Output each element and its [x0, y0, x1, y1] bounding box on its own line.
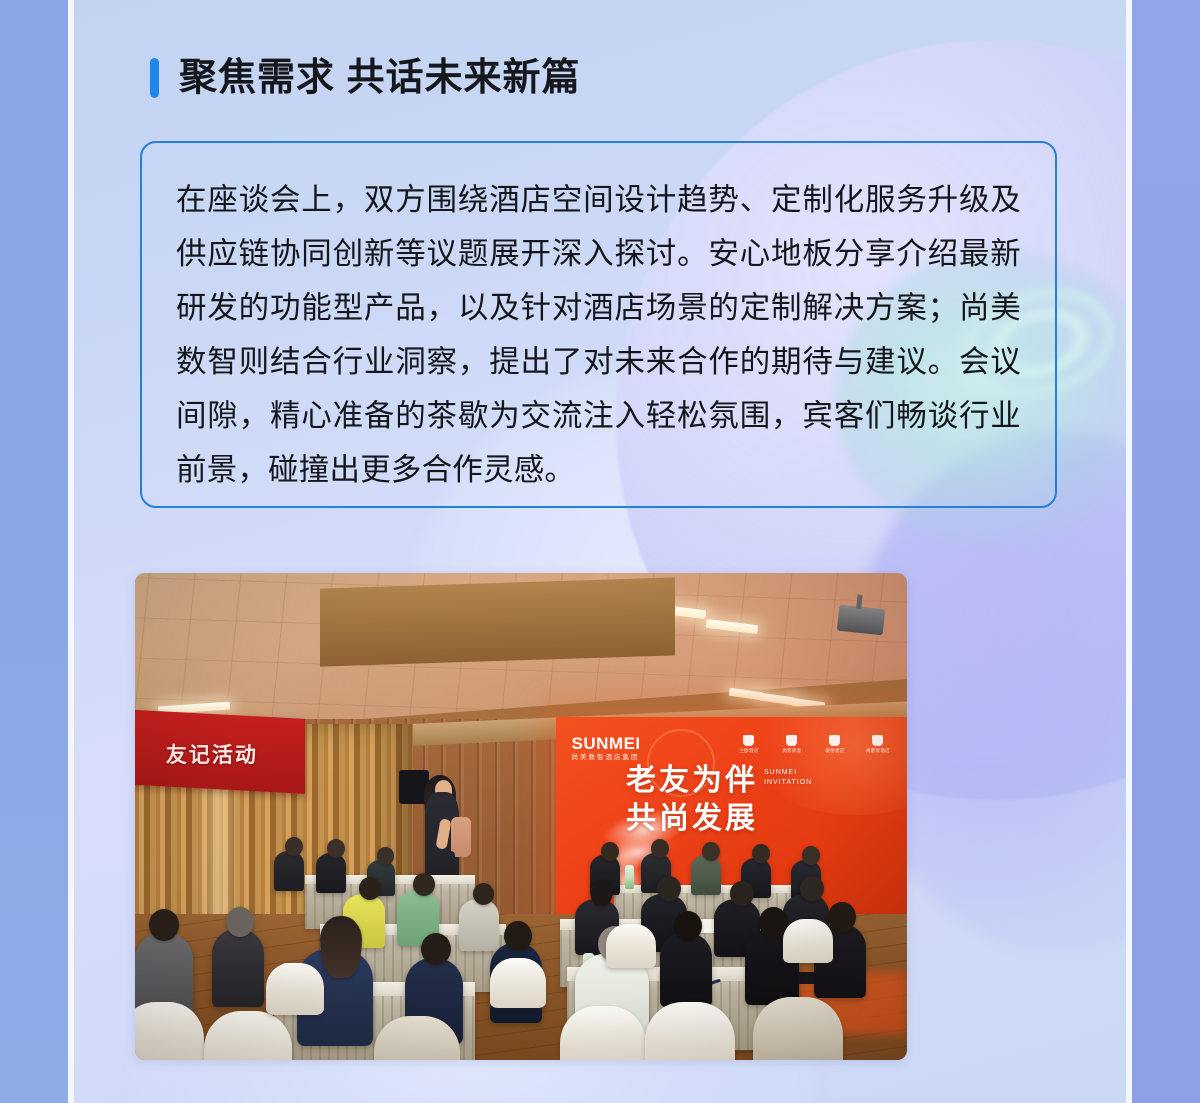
audience-head [149, 909, 179, 941]
audience-head [702, 842, 720, 861]
sub-brand-name: 兰欧酒店 [739, 748, 758, 753]
sub-brand-icon [829, 735, 840, 746]
sub-brand-name: 骏怡酒店 [825, 748, 844, 753]
presenter-bag [451, 817, 471, 857]
audience-head [377, 847, 394, 865]
description-paragraph: 在座谈会上，双方围绕酒店空间设计趋势、定制化服务升级及供应链协同创新等议题展开深… [176, 173, 1021, 497]
right-decorative-band [1132, 0, 1200, 1103]
audience-head [828, 902, 856, 932]
audience-head [590, 880, 613, 906]
audience-head [421, 933, 451, 965]
sub-brand-item: 尚客优品 [777, 735, 807, 754]
headline-line1-text: 老友为伴 [626, 764, 758, 797]
description-card: 在座谈会上，双方围绕酒店空间设计趋势、定制化服务升级及供应链协同创新等议题展开深… [140, 141, 1057, 508]
sub-brand-item: 尚客优酒店 [863, 735, 893, 754]
sub-brand-icon [743, 735, 754, 746]
screen-headline-line1: 老友为伴SUNMEIINVITATION [626, 762, 812, 800]
audience-head [730, 881, 754, 906]
section-heading: 聚焦需求 共话未来新篇 [150, 58, 581, 98]
audience-head [800, 876, 824, 901]
page-title: 聚焦需求 共话未来新篇 [179, 59, 581, 97]
banquet-chair [753, 997, 843, 1060]
content-canvas: 聚焦需求 共话未来新篇 在座谈会上，双方围绕酒店空间设计趋势、定制化服务升级及供… [74, 0, 1126, 1103]
audience-head [657, 876, 681, 901]
audience-person [316, 853, 346, 893]
left-decorative-band [0, 0, 68, 1103]
banquet-chair [490, 958, 546, 1008]
banquet-chair [606, 924, 656, 968]
water-bottle [625, 865, 634, 889]
audience-head [601, 842, 619, 861]
banquet-chair [645, 1002, 735, 1060]
audience-head [320, 916, 362, 978]
screen-headline: 老友为伴SUNMEIINVITATION 共尚发展 [626, 762, 812, 839]
conference-photo: 友记活动 SUNMEI 尚美数智酒店集团 兰欧酒店 尚客优品 骏怡酒店 尚客优酒… [135, 573, 907, 1060]
banner-text: 友记活动 [166, 739, 258, 769]
sunmei-logo-text: SUNMEI [572, 734, 641, 753]
poster-page: 聚焦需求 共话未来新篇 在座谈会上，双方围绕酒店空间设计趋势、定制化服务升级及供… [0, 0, 1200, 1103]
banquet-chair [560, 1006, 646, 1060]
sub-brand-item: 兰欧酒店 [734, 735, 764, 754]
sub-brand-name: 尚客优酒店 [866, 748, 890, 753]
audience-head [226, 907, 254, 937]
sub-brand-logos: 兰欧酒店 尚客优品 骏怡酒店 尚客优酒店 [734, 735, 893, 754]
audience-head [752, 844, 770, 863]
blue-accent-bar-icon [150, 58, 159, 98]
audience-person [691, 855, 721, 895]
right-gap-divider [1126, 0, 1132, 1103]
audience-head [327, 839, 345, 858]
ceiling-light [760, 692, 795, 705]
audience-person [274, 851, 304, 891]
audience-person [459, 899, 499, 951]
banquet-chair [266, 963, 324, 1015]
screen-headline-line2: 共尚发展 [626, 800, 812, 838]
banquet-chair [783, 919, 833, 963]
audience-person [212, 929, 264, 1007]
audience-head [413, 873, 435, 896]
audience-person [660, 933, 712, 1007]
headline-en: SUNMEIINVITATION [764, 768, 812, 788]
sunmei-logo-sub: 尚美数智酒店集团 [572, 755, 641, 762]
sub-brand-name: 尚客优品 [782, 748, 801, 753]
audience-head [285, 837, 303, 856]
photo-content: 友记活动 SUNMEI 尚美数智酒店集团 兰欧酒店 尚客优品 骏怡酒店 尚客优酒… [135, 573, 907, 1060]
sunmei-logo: SUNMEI 尚美数智酒店集团 [572, 735, 641, 762]
audience-head [473, 883, 494, 905]
ceiling-projector [837, 605, 885, 636]
sub-brand-icon [872, 735, 883, 746]
sub-brand-item: 骏怡酒店 [820, 735, 850, 754]
sub-brand-icon [786, 735, 797, 746]
stage-step [320, 577, 675, 666]
